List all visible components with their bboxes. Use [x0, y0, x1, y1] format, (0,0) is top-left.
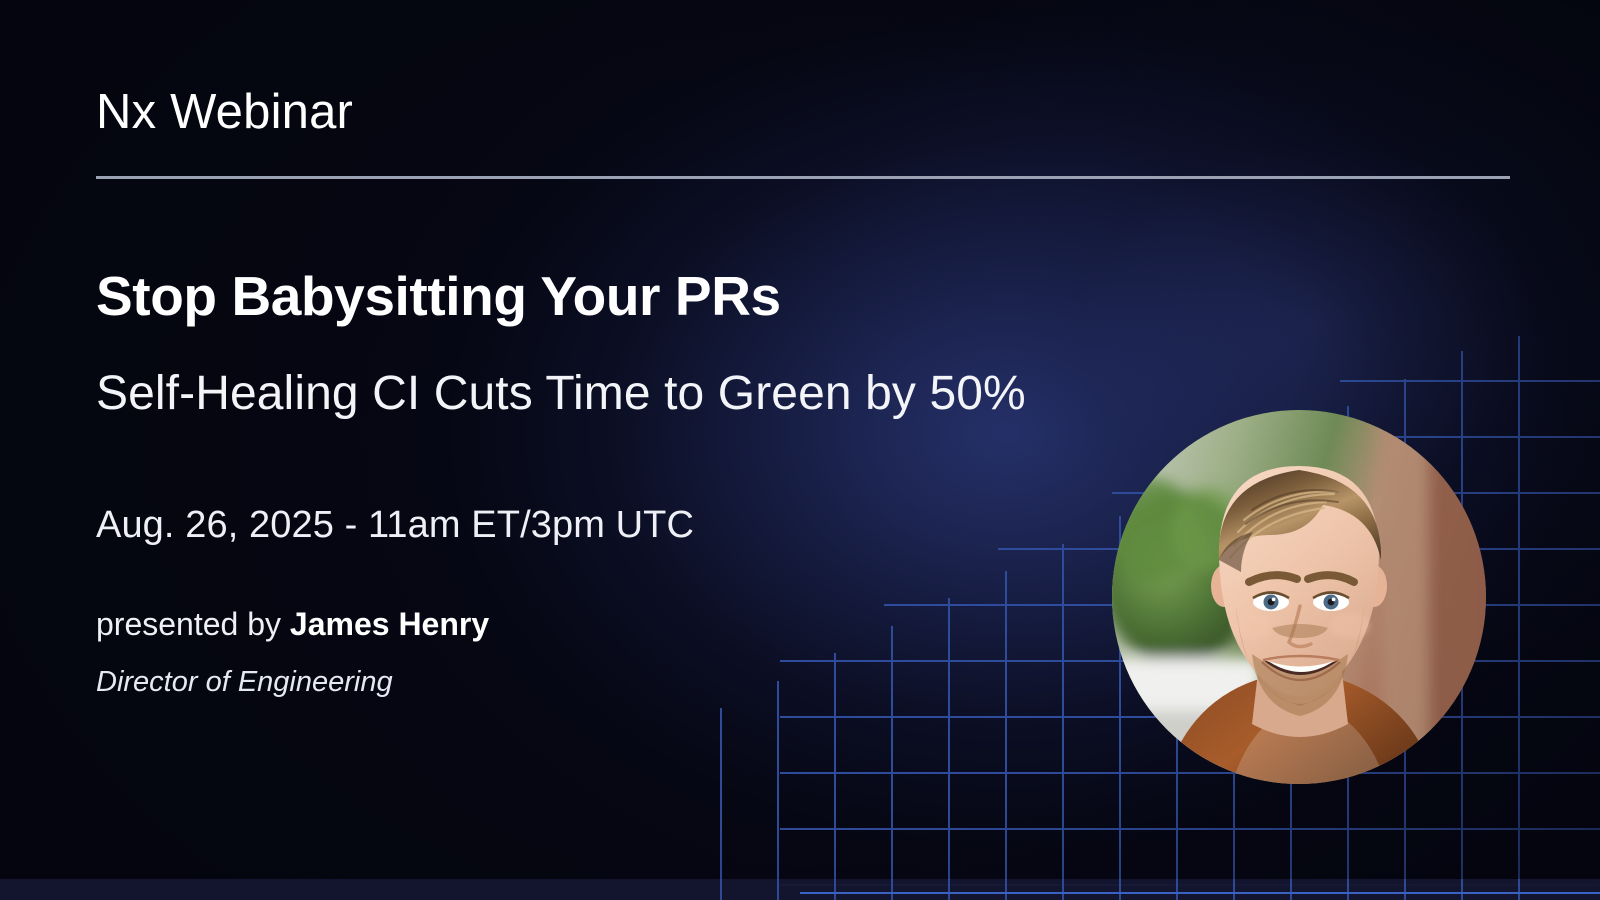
content-column: Nx Webinar Stop Babysitting Your PRs Sel… [96, 0, 1196, 900]
header-divider [96, 176, 1510, 179]
webinar-promo-card: Nx Webinar Stop Babysitting Your PRs Sel… [0, 0, 1600, 900]
eyebrow-label: Nx Webinar [96, 88, 353, 137]
webinar-datetime: Aug. 26, 2025 - 11am ET/3pm UTC [96, 506, 694, 544]
page-title: Stop Babysitting Your PRs [96, 269, 781, 324]
presented-by-label: presented by [96, 606, 281, 642]
speaker-role: Director of Engineering [96, 668, 393, 697]
presenter-line: presented by James Henry [96, 608, 489, 640]
page-subtitle: Self-Healing CI Cuts Time to Green by 50… [96, 358, 1096, 429]
speaker-name: James Henry [290, 606, 489, 642]
